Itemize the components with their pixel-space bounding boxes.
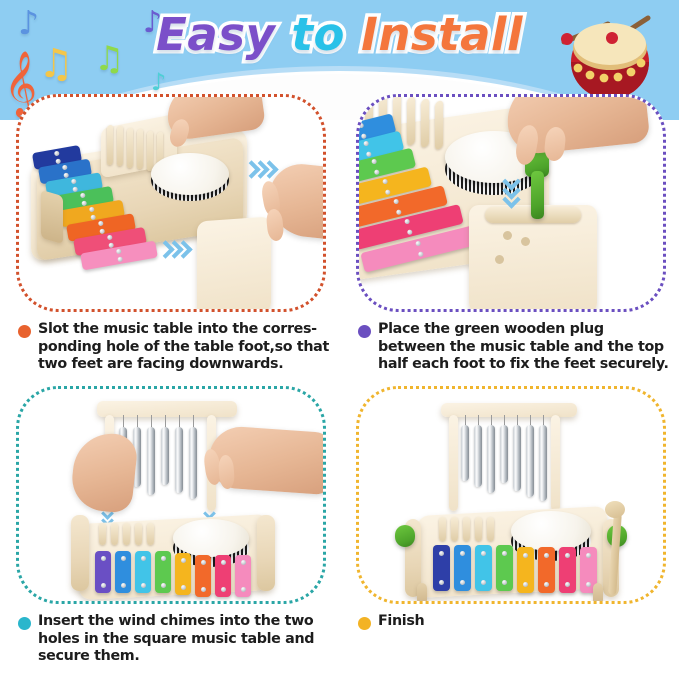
step-4-caption: Finish [358, 613, 670, 631]
step-2-caption: Place the green wooden plug between the … [358, 321, 670, 374]
step-2-caption-text: Place the green wooden plug between the … [378, 321, 670, 374]
step-1-caption: Slot the music table into the corres-pon… [18, 321, 330, 374]
step-card-2: Place the green wooden plug between the … [340, 88, 679, 381]
step-card-3: Insert the wind chimes into the two hole… [0, 380, 339, 673]
page-title: Easy to Install [0, 8, 679, 61]
step-card-1: Slot the music table into the corres-pon… [0, 88, 339, 381]
step-card-4: Finish [340, 380, 679, 673]
title-word-easy: Easy [156, 8, 275, 61]
drum-head [151, 153, 229, 195]
title-word-install: Install [361, 8, 523, 61]
easy-to-install-infographic: ♪ ♫ ♫ ♪ ♪ 𝄞 [0, 0, 679, 675]
step-2-bullet [358, 325, 371, 338]
step-2-photo [356, 94, 666, 312]
steps-grid: Slot the music table into the corres-pon… [0, 88, 679, 675]
step-4-bullet [358, 617, 371, 630]
step-3-caption-text: Insert the wind chimes into the two hole… [38, 613, 330, 666]
step-3-photo [16, 386, 326, 604]
step-4-caption-text: Finish [378, 613, 424, 631]
step-3-bullet [18, 617, 31, 630]
step-1-bullet [18, 325, 31, 338]
title-word-to: to [292, 8, 345, 61]
step-1-photo [16, 94, 326, 312]
step-4-photo [356, 386, 666, 604]
step-1-caption-text: Slot the music table into the corres-pon… [38, 321, 330, 374]
step-3-caption: Insert the wind chimes into the two hole… [18, 613, 330, 666]
